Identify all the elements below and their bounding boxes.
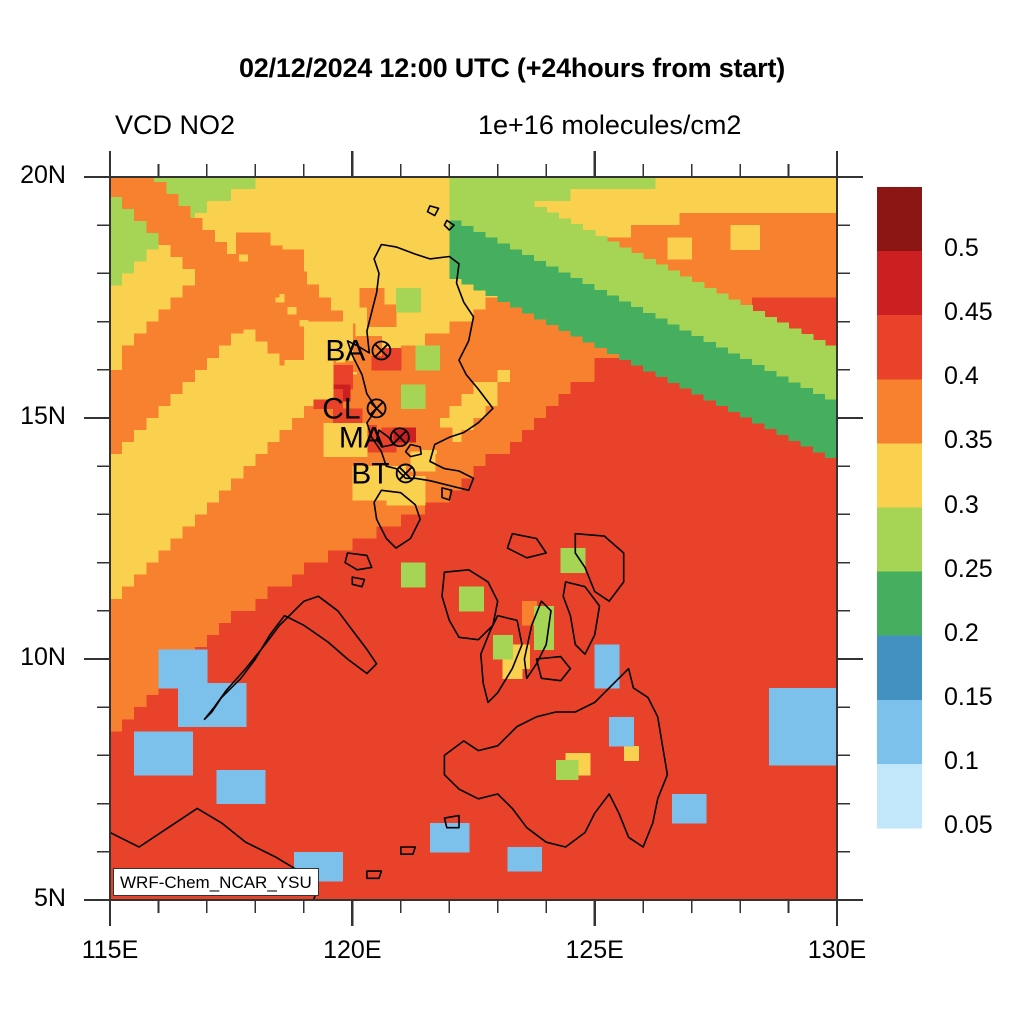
x-tick-label-130E: 130E xyxy=(772,936,902,965)
colorbar-band-3 xyxy=(877,379,922,444)
colorbar-band-9 xyxy=(877,764,922,829)
no2-heatmap-layer xyxy=(110,170,874,901)
y-tick-label-15N: 15N xyxy=(0,402,66,431)
station-label-ba: BA xyxy=(325,335,365,368)
colorbar-band-7 xyxy=(877,636,922,701)
station-label-ma: MA xyxy=(339,421,384,454)
colorbar-band-2 xyxy=(877,315,922,380)
model-watermark: WRF-Chem_NCAR_YSU xyxy=(113,868,319,896)
x-tick-label-125E: 125E xyxy=(530,936,660,965)
colorbar-band-6 xyxy=(877,572,922,637)
x-tick-label-115E: 115E xyxy=(45,936,175,965)
colorbar-tick-label-0.15: 0.15 xyxy=(944,683,993,712)
colorbar-tick-label-0.25: 0.25 xyxy=(944,555,993,584)
y-tick-label-5N: 5N xyxy=(0,884,66,913)
colorbar-band-1 xyxy=(877,251,922,316)
colorbar-band-0 xyxy=(877,187,922,252)
colorbar-tick-label-0.1: 0.1 xyxy=(944,747,979,776)
y-tick-label-10N: 10N xyxy=(0,643,66,672)
x-tick-label-120E: 120E xyxy=(287,936,417,965)
colorbar-tick-label-0.3: 0.3 xyxy=(944,491,979,520)
colorbar-tick-label-0.2: 0.2 xyxy=(944,619,979,648)
colorbar-tick-label-0.5: 0.5 xyxy=(944,234,979,263)
colorbar xyxy=(877,187,922,829)
station-label-bt: BT xyxy=(351,457,389,490)
colorbar-band-5 xyxy=(877,508,922,573)
y-tick-label-20N: 20N xyxy=(0,161,66,190)
colorbar-tick-label-0.35: 0.35 xyxy=(944,426,993,455)
colorbar-tick-label-0.05: 0.05 xyxy=(944,811,993,840)
colorbar-tick-label-0.4: 0.4 xyxy=(944,362,979,391)
colorbar-band-8 xyxy=(877,700,922,765)
colorbar-tick-label-0.45: 0.45 xyxy=(944,298,993,327)
colorbar-band-4 xyxy=(877,443,922,508)
